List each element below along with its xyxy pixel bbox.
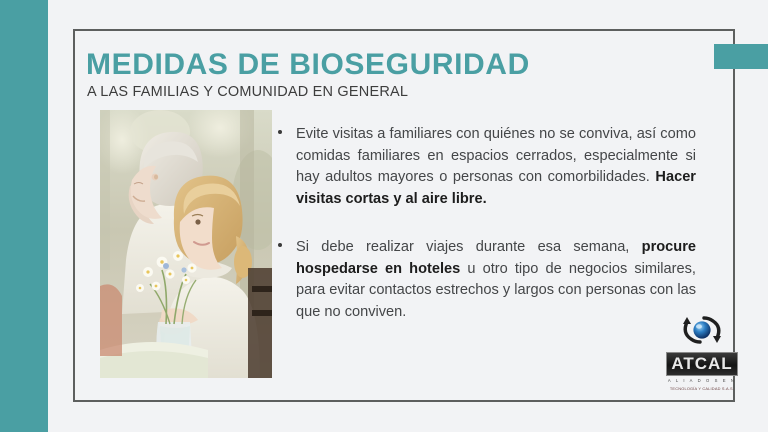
list-item: Si debe realizar viajes durante esa sema…	[278, 237, 696, 324]
bullet-2-segment-normal-a: Si debe realizar viajes durante esa sema…	[296, 239, 642, 255]
bullet-dot-icon	[278, 130, 282, 134]
bullet-list: Evite visitas a familiares con quiénes n…	[278, 124, 696, 340]
slide-canvas: MEDIDAS DE BIOSEGURIDAD A LAS FAMILIAS Y…	[0, 0, 768, 432]
left-accent-bar	[0, 0, 48, 432]
atcal-logo: ATCAL A L I A D O S E N TECNOLOGÍA Y CAL…	[666, 310, 740, 398]
top-right-accent-block	[714, 44, 768, 69]
atcal-wordmark: ATCAL	[666, 352, 738, 376]
bullet-1-text: Evite visitas a familiares con quiénes n…	[296, 124, 696, 211]
bullet-2-text: Si debe realizar viajes durante esa sema…	[296, 237, 696, 324]
atcal-tagline-line2: TECNOLOGÍA Y CALIDAD S.A.S.	[666, 386, 738, 391]
list-item: Evite visitas a familiares con quiénes n…	[278, 124, 696, 211]
page-subtitle: A LAS FAMILIAS Y COMUNIDAD EN GENERAL	[87, 84, 408, 100]
family-photo	[100, 110, 272, 378]
family-photo-illustration	[100, 110, 272, 378]
atcal-sphere-arrows-icon	[678, 310, 726, 350]
bullet-1-segment-normal: Evite visitas a familiares con quiénes n…	[296, 126, 696, 185]
atcal-tagline-line1: A L I A D O S E N	[666, 378, 738, 383]
page-title: MEDIDAS DE BIOSEGURIDAD	[86, 48, 530, 82]
bullet-dot-icon	[278, 243, 282, 247]
